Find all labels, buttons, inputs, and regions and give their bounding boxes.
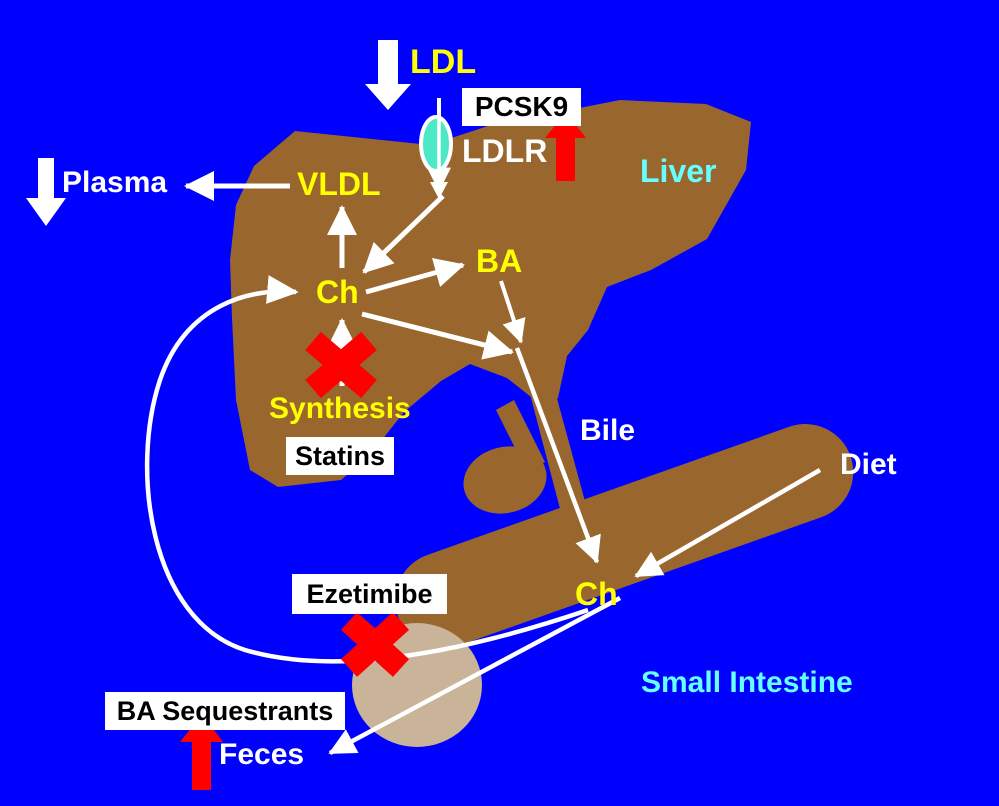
label-ldl: LDL	[410, 45, 476, 79]
label-small-intestine: Small Intestine	[641, 668, 853, 698]
label-liver: Liver	[640, 155, 716, 187]
ldlr-receptor-icon	[421, 117, 451, 171]
drug-box-statins[interactable]: Statins	[286, 437, 394, 475]
label-synthesis: Synthesis	[269, 394, 411, 424]
label-ch-intestine: Ch	[575, 578, 618, 610]
label-bile: Bile	[580, 416, 635, 446]
drug-box-pcsk9[interactable]: PCSK9	[462, 88, 581, 126]
label-ldlr: LDLR	[462, 135, 547, 167]
drug-box-ba-sequestrants[interactable]: BA Sequestrants	[105, 692, 345, 730]
label-ba: BA	[476, 245, 522, 277]
label-ch-liver: Ch	[316, 276, 359, 308]
diagram-canvas: LDL LDLR Liver Plasma VLDL BA Ch Synthes…	[0, 0, 999, 806]
label-diet: Diet	[840, 450, 897, 480]
drug-box-ezetimibe[interactable]: Ezetimibe	[292, 574, 447, 614]
label-vldl: VLDL	[297, 168, 381, 200]
label-plasma: Plasma	[62, 168, 167, 198]
label-feces: Feces	[219, 740, 304, 770]
